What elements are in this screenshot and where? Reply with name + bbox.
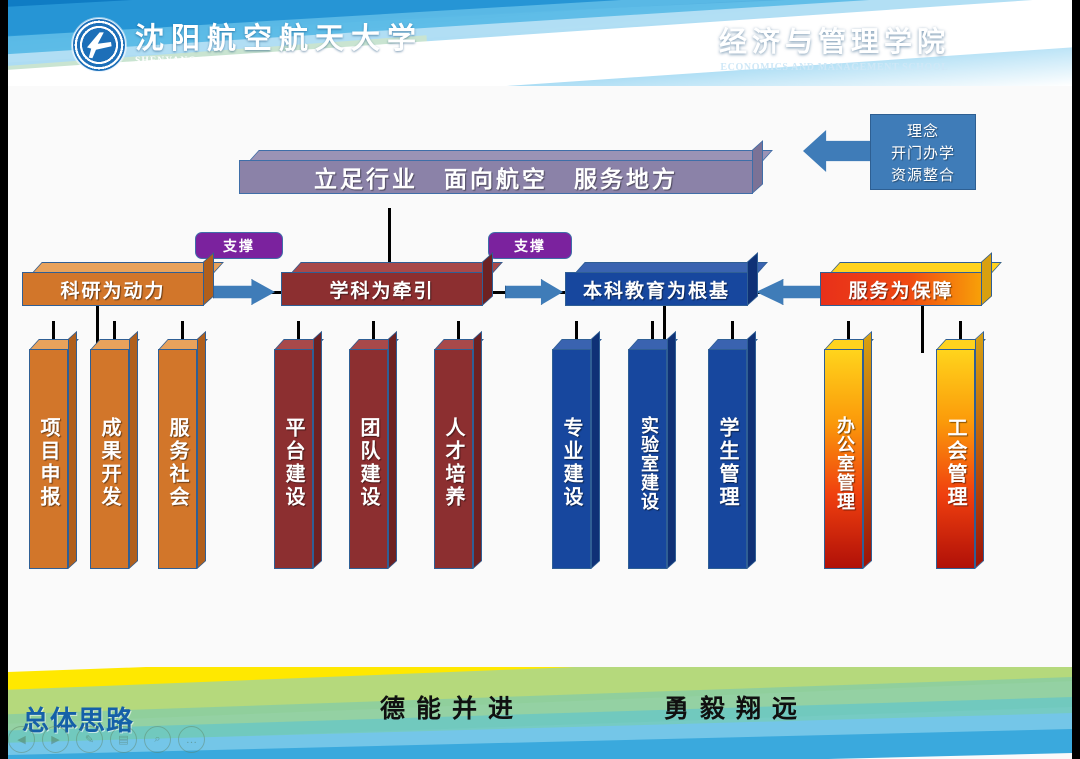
flow-arrow-3-left-arrow-icon xyxy=(756,279,828,305)
idea-line-1: 开门办学 xyxy=(891,142,955,163)
presentation-slide: 沈阳航空航天大学 SHENYANG AEROSPACE UNIVERSITY 经… xyxy=(0,0,1080,759)
slide-header: 沈阳航空航天大学 SHENYANG AEROSPACE UNIVERSITY 经… xyxy=(8,0,1072,86)
column-front-face: 办公室管理 xyxy=(824,349,863,569)
column-side-face xyxy=(388,331,397,569)
pillar-bar-research-face: 科研为动力 xyxy=(22,272,204,306)
pillar-bar-discipline-face: 学科为牵引 xyxy=(281,272,483,306)
column-front-face: 实验室建设 xyxy=(628,349,667,569)
column-major-construction: 专业建设 xyxy=(552,339,600,569)
column-label: 服务社会 xyxy=(167,417,188,509)
university-logo: 沈阳航空航天大学 SHENYANG AEROSPACE UNIVERSITY xyxy=(72,18,423,72)
column-stem xyxy=(297,321,300,340)
column-stem xyxy=(847,321,850,340)
column-laboratory-construction: 实验室建设 xyxy=(628,339,676,569)
university-name-en: SHENYANG AEROSPACE UNIVERSITY xyxy=(135,57,423,67)
column-project-application: 项目申报 xyxy=(29,339,77,569)
column-label: 平台建设 xyxy=(283,417,304,509)
column-front-face: 项目申报 xyxy=(29,349,68,569)
column-side-face xyxy=(667,331,676,569)
column-platform-construction: 平台建设 xyxy=(274,339,322,569)
column-side-face xyxy=(68,331,77,569)
pen-tool-icon[interactable]: ✎ xyxy=(76,726,103,753)
university-seal-icon xyxy=(72,18,126,72)
column-side-face xyxy=(473,331,482,569)
column-stem xyxy=(959,321,962,340)
column-talent-cultivation: 人才培养 xyxy=(434,339,482,569)
column-student-management: 学生管理 xyxy=(708,339,756,569)
column-stem xyxy=(651,321,654,340)
column-side-face xyxy=(975,331,984,569)
pillar-bar-undergraduate-face: 本科教育为根基 xyxy=(565,272,748,306)
column-team-construction: 团队建设 xyxy=(349,339,397,569)
column-front-face: 专业建设 xyxy=(552,349,591,569)
support-badge-2-label: 支撑 xyxy=(514,236,546,256)
column-stem xyxy=(731,321,734,340)
column-label: 成果开发 xyxy=(99,417,120,509)
diagram-title-text: 立足行业 面向航空 服务地方 xyxy=(314,160,678,194)
support-badge-1-label: 支撑 xyxy=(223,236,255,256)
column-union-management: 工会管理 xyxy=(936,339,984,569)
column-front-face: 工会管理 xyxy=(936,349,975,569)
column-label: 学生管理 xyxy=(717,417,738,509)
column-achievement-development: 成果开发 xyxy=(90,339,138,569)
column-label: 项目申报 xyxy=(38,417,59,509)
column-office-management: 办公室管理 xyxy=(824,339,872,569)
school-name: 经济与管理学院 ECONOMICS AND MANAGEMENT SCHOOL xyxy=(719,20,950,73)
column-front-face: 平台建设 xyxy=(274,349,313,569)
support-badge-1: 支撑 xyxy=(195,232,283,259)
support-badge-2: 支撑 xyxy=(488,232,572,259)
column-side-face xyxy=(747,331,756,569)
column-label: 团队建设 xyxy=(358,417,379,509)
strategy-diagram: 立足行业 面向航空 服务地方 理念 开门办学 资源整合 支撑 支撑 xyxy=(8,86,1072,671)
column-stem xyxy=(113,321,116,340)
column-side-face xyxy=(197,331,206,569)
university-name: 沈阳航空航天大学 SHENYANG AEROSPACE UNIVERSITY xyxy=(135,24,423,67)
pillar-bar-undergraduate-side xyxy=(747,252,758,306)
more-options-icon[interactable]: … xyxy=(178,726,205,753)
next-slide-icon[interactable]: ▶ xyxy=(42,726,69,753)
presentation-controls[interactable]: ◀ ▶ ✎ ▤ ⌕ … xyxy=(8,726,205,753)
column-label: 人才培养 xyxy=(443,417,464,509)
column-label: 专业建设 xyxy=(561,417,582,509)
pillar-bar-service-label: 服务为保障 xyxy=(848,276,953,303)
school-name-cn: 经济与管理学院 xyxy=(719,20,950,60)
university-name-cn: 沈阳航空航天大学 xyxy=(135,24,423,53)
school-name-en: ECONOMICS AND MANAGEMENT SCHOOL xyxy=(719,62,950,73)
motto-first-half: 德能并进 xyxy=(380,689,524,725)
column-serve-society: 服务社会 xyxy=(158,339,206,569)
column-front-face: 服务社会 xyxy=(158,349,197,569)
title-bar-front-face: 立足行业 面向航空 服务地方 xyxy=(239,160,753,194)
flow-arrow-2-right-arrow-icon xyxy=(505,279,563,305)
column-stem xyxy=(52,321,55,340)
column-side-face xyxy=(129,331,138,569)
idea-line-2: 资源整合 xyxy=(891,164,955,185)
column-front-face: 人才培养 xyxy=(434,349,473,569)
idea-heading: 理念 xyxy=(907,120,939,141)
prev-slide-icon[interactable]: ◀ xyxy=(8,726,35,753)
column-front-face: 学生管理 xyxy=(708,349,747,569)
pillar-bar-service-face: 服务为保障 xyxy=(820,272,982,306)
motto-second-half: 勇毅翔远 xyxy=(664,689,808,725)
column-stem xyxy=(372,321,375,340)
flow-arrow-1-right-arrow-icon xyxy=(213,279,275,305)
column-front-face: 成果开发 xyxy=(90,349,129,569)
column-front-face: 团队建设 xyxy=(349,349,388,569)
pillar-bar-research: 科研为动力 xyxy=(22,262,214,306)
pillar-bar-service-side xyxy=(981,252,992,306)
column-side-face xyxy=(591,331,600,569)
pillar-bar-research-label: 科研为动力 xyxy=(60,276,165,303)
pillar-bar-discipline-side xyxy=(482,252,493,306)
pillar-bar-discipline: 学科为牵引 xyxy=(281,262,493,306)
column-stem xyxy=(181,321,184,340)
zoom-icon[interactable]: ⌕ xyxy=(144,726,171,753)
column-stem xyxy=(457,321,460,340)
pillar-bar-discipline-label: 学科为牵引 xyxy=(329,276,434,303)
column-label: 办公室管理 xyxy=(834,416,853,511)
title-bar-side-face xyxy=(752,140,763,194)
idea-left-arrow-icon xyxy=(803,130,871,172)
idea-box: 理念 开门办学 资源整合 xyxy=(870,114,976,190)
pillar-bar-service: 服务为保障 xyxy=(820,262,992,306)
column-label: 实验室建设 xyxy=(638,416,657,511)
diagram-title-bar: 立足行业 面向航空 服务地方 xyxy=(239,150,763,194)
pillar-bar-undergraduate: 本科教育为根基 xyxy=(565,262,758,306)
column-stem xyxy=(575,321,578,340)
column-label: 工会管理 xyxy=(945,417,966,509)
all-slides-icon[interactable]: ▤ xyxy=(110,726,137,753)
pillar-bar-research-side xyxy=(203,252,214,306)
pillar-bar-undergraduate-label: 本科教育为根基 xyxy=(583,276,730,303)
column-side-face xyxy=(313,331,322,569)
column-side-face xyxy=(863,331,872,569)
